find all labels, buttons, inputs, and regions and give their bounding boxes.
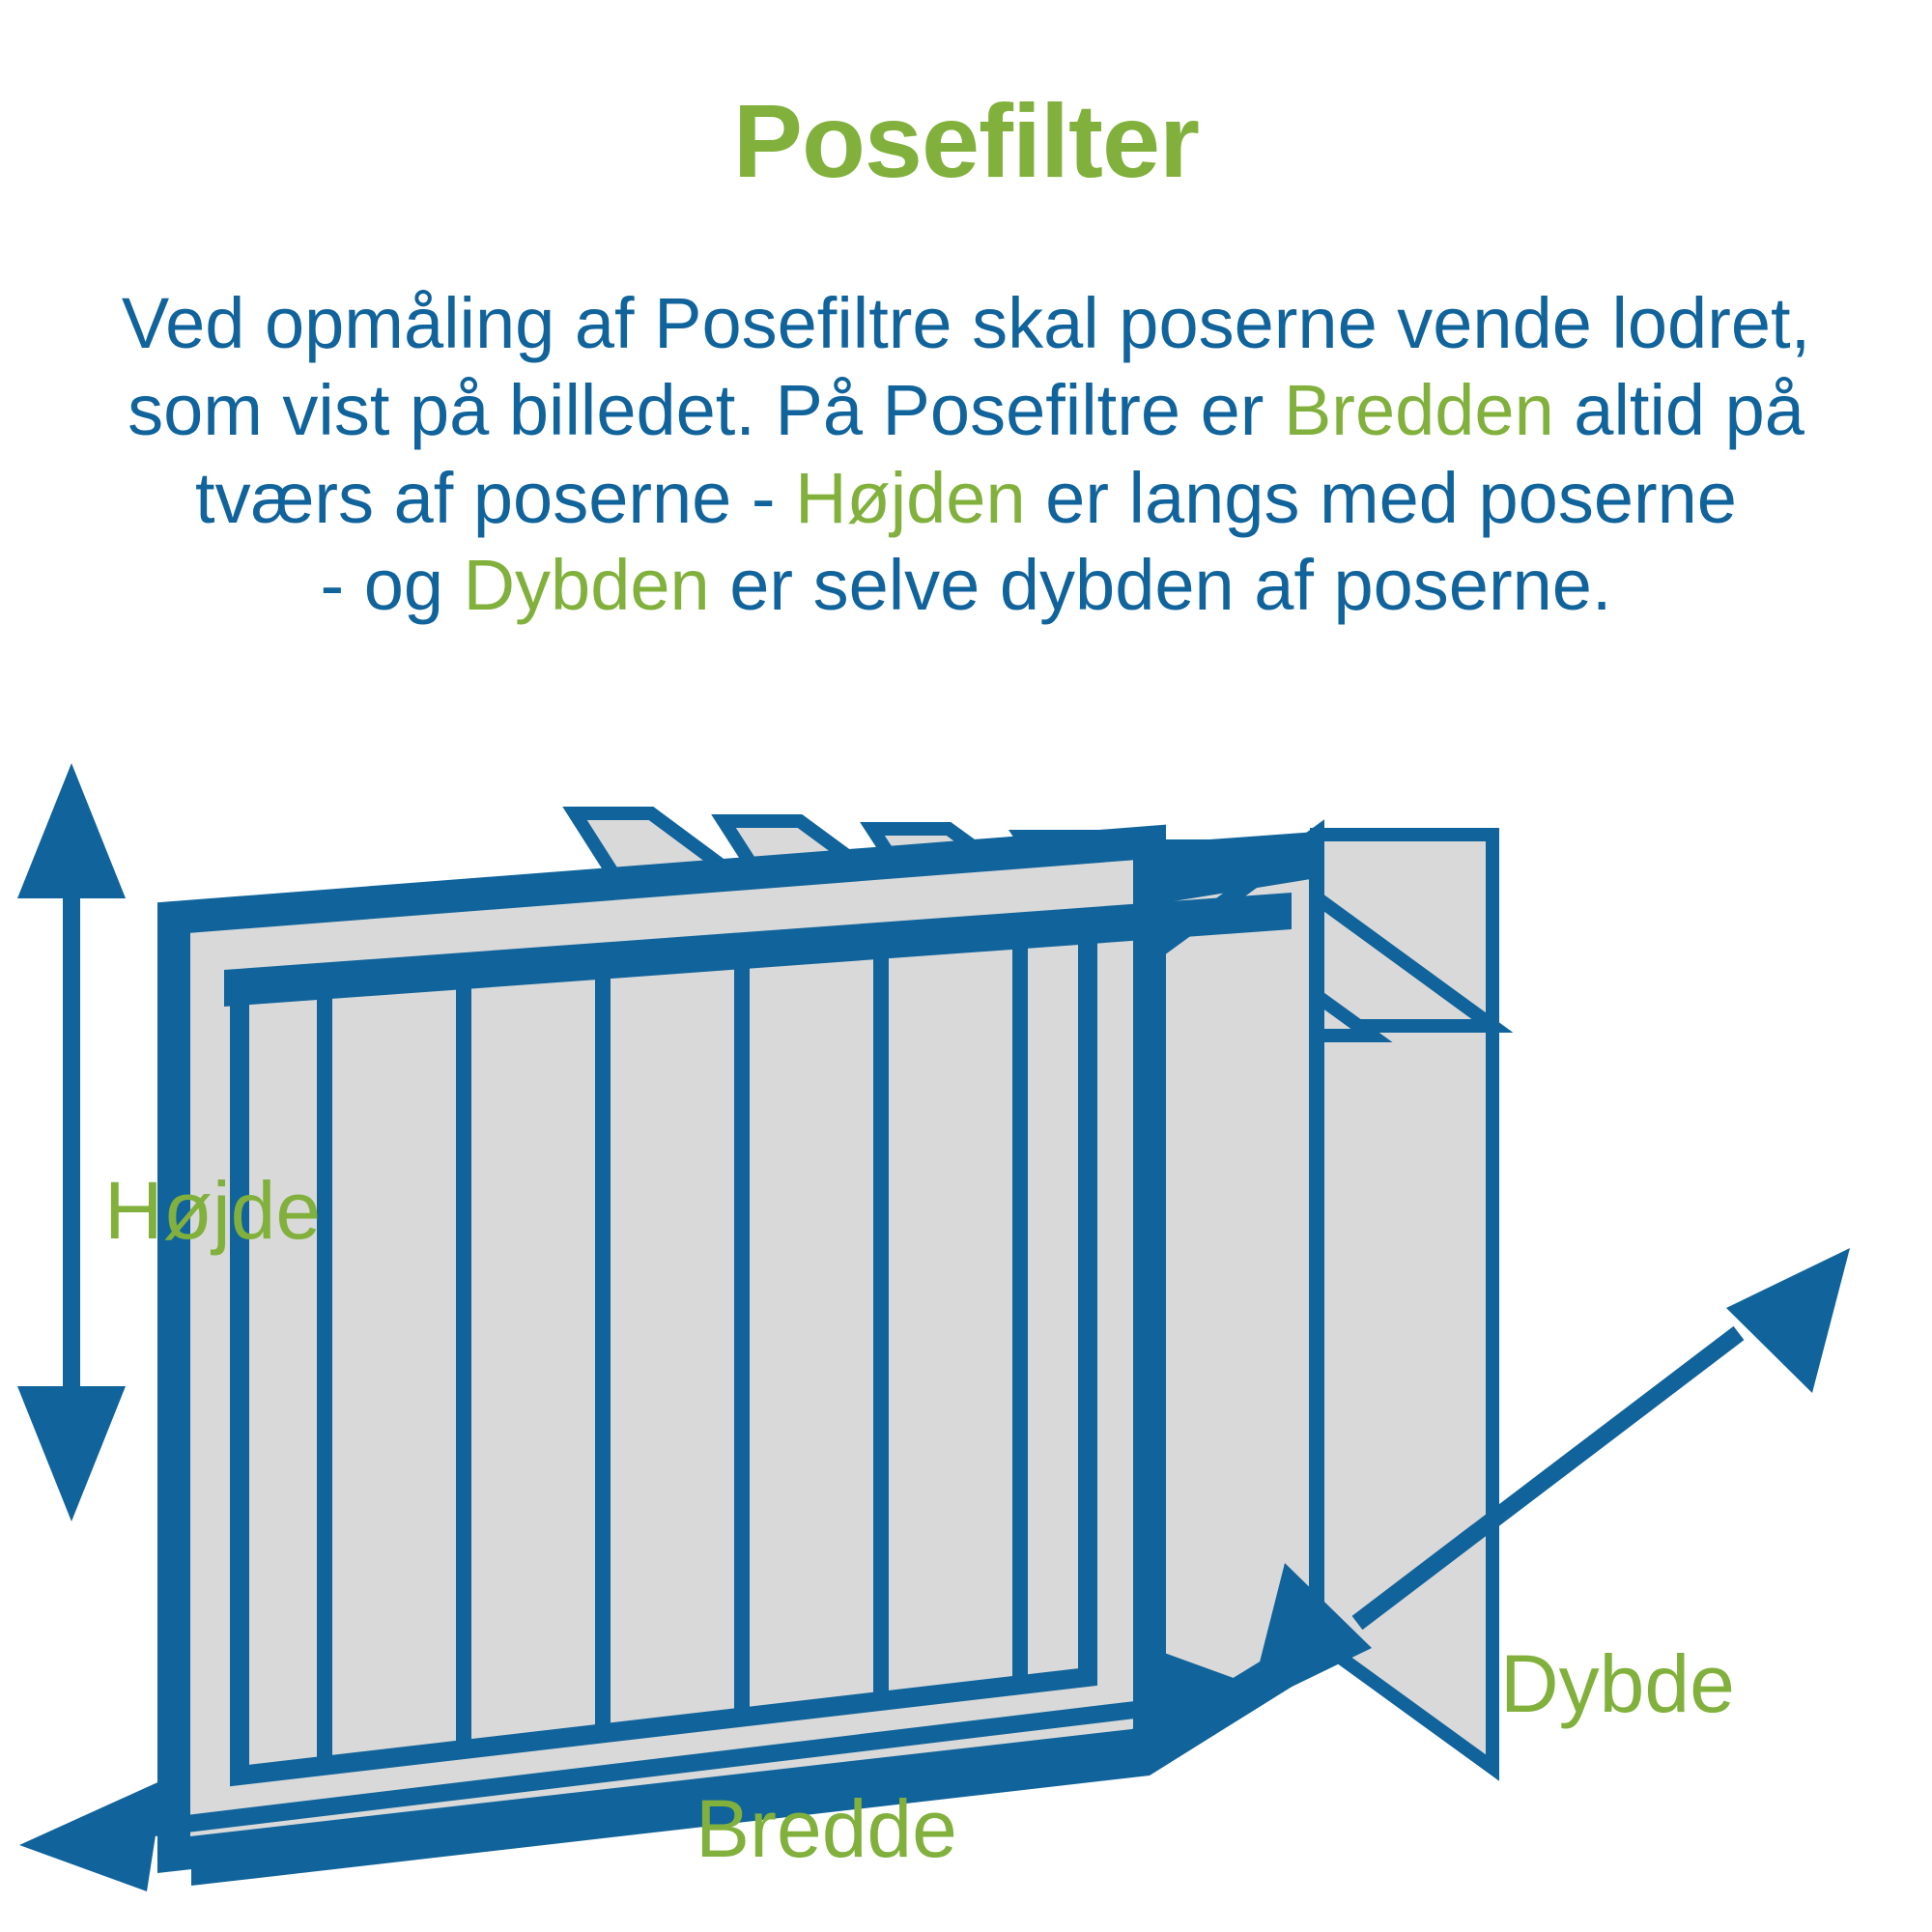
height-label-text: Højde bbox=[104, 1164, 321, 1258]
poster-root: Posefilter Ved opmåling af Posefiltre sk… bbox=[0, 0, 1932, 1932]
page-title: Posefilter bbox=[0, 89, 1932, 193]
intro-highlight-bredden: Bredden bbox=[1284, 370, 1554, 450]
bag-filter-diagram: Højde bbox=[0, 667, 1932, 1932]
height-arrow bbox=[17, 763, 126, 1521]
intro-line-3-before: tværs af poserne - bbox=[195, 458, 795, 538]
intro-highlight-dybden: Dybden bbox=[464, 545, 710, 625]
intro-line-4-after: er selve dybden af poserne. bbox=[710, 545, 1612, 625]
intro-paragraph: Ved opmåling af Posefiltre skal poserne … bbox=[77, 280, 1855, 629]
intro-line-4-before: - og bbox=[321, 545, 464, 625]
intro-line-3-after: er langs med poserne bbox=[1026, 458, 1737, 538]
intro-line-2-before: som vist på billedet. På Posefiltre er bbox=[128, 370, 1284, 450]
intro-line-2-after: altid på bbox=[1554, 370, 1804, 450]
intro-line-1: Ved opmåling af Posefiltre skal poserne … bbox=[122, 283, 1810, 363]
depth-label-text: Dybde bbox=[1500, 1637, 1735, 1731]
width-label-text: Bredde bbox=[696, 1782, 957, 1876]
intro-highlight-hojden: Højden bbox=[795, 458, 1026, 538]
